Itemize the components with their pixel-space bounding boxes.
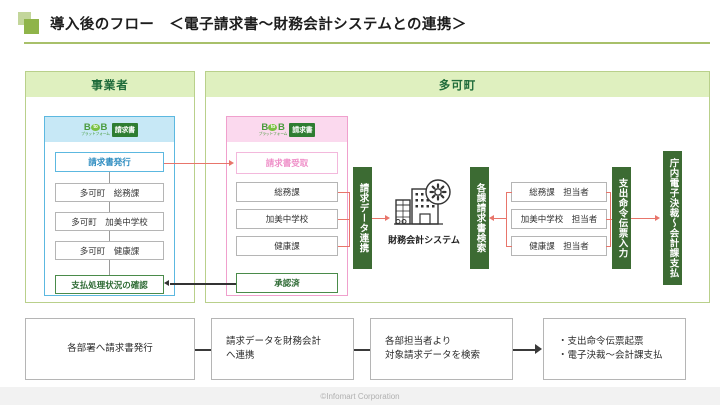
bracket-staff1-right: [606, 192, 611, 193]
footer-copyright-text: ©Infomart Corporation: [320, 392, 399, 401]
flow-box-staff-3[interactable]: 健康課 担当者: [511, 236, 607, 256]
btob-logo-letters: B to B: [84, 123, 107, 133]
flow-box-vendor-dept-3[interactable]: 多可町 健康課: [55, 241, 164, 260]
btob-logo-mark: B to B プラットフォーム: [81, 123, 110, 137]
btob-logo-badge-town: 請求書: [289, 123, 315, 137]
bracket-staff3-left: [506, 246, 512, 247]
summary-box-2-line1: 請求データを財務会計: [226, 335, 321, 349]
summary-box-4: ・支出命令伝票起票 ・電子決裁～会計課支払: [543, 318, 686, 380]
title-marker-front-square: [24, 19, 39, 34]
flow-box-invoice-receive[interactable]: 請求書受取: [236, 152, 338, 174]
btob-logo-to: to: [91, 124, 100, 131]
btob-logo-b-left-town: B: [261, 123, 268, 133]
flow-box-vendor-dept-1[interactable]: 多可町 総務課: [55, 183, 164, 202]
arrow-approved-to-confirm-head: [164, 280, 169, 286]
btob-logo-b-right: B: [100, 123, 107, 133]
flow-box-town-dept-2[interactable]: 加美中学校: [236, 209, 338, 229]
summary-box-4-line1: ・支出命令伝票起票: [558, 335, 663, 349]
btob-platform-logo-town: B to B プラットフォーム 請求書: [259, 123, 316, 137]
summary-box-1: 各部署へ請求書発行: [25, 318, 195, 380]
summary-box-3: 各部担当者より 対象請求データを検索: [370, 318, 513, 380]
btob-logo-to-town: to: [268, 124, 277, 131]
btob-logo-mark-town: B to B プラットフォーム: [259, 123, 288, 137]
bracket-staff-left-vertical: [506, 192, 507, 247]
btob-logo-letters-town: B to B: [261, 123, 284, 133]
summary-box-4-line2: ・電子決裁～会計課支払: [558, 349, 663, 363]
summary-connector-1: [195, 349, 211, 351]
flow-box-payment-status-check[interactable]: 支払処理状況の確認: [55, 275, 164, 294]
btob-logo-header-vendor: B to B プラットフォーム 請求書: [45, 117, 174, 142]
arrow-voucher-to-approval-head: [655, 215, 660, 221]
panel-vendor-header: 事業者: [26, 72, 194, 97]
vbar-internal-electronic-approval: 庁内電子決裁～会計課支払: [663, 151, 682, 285]
arrow-staff-to-search-head: [489, 215, 494, 221]
connector-dept2-dept3: [109, 231, 110, 241]
arrow-datalink-to-system-head: [385, 215, 390, 221]
connector-dept3-confirm: [109, 260, 110, 275]
arrow-datalink-to-system-line: [372, 218, 386, 219]
flow-box-town-dept-1[interactable]: 総務課: [236, 182, 338, 202]
btob-logo-badge: 請求書: [112, 123, 138, 137]
btob-logo-header-town: B to B プラットフォーム 請求書: [227, 117, 347, 142]
btob-logo-b-left: B: [84, 123, 91, 133]
building-gear-icon: [393, 178, 455, 230]
arrow-staff-to-search-line: [493, 218, 507, 219]
system-label: 財務会計システム: [378, 233, 470, 246]
title-divider: [24, 42, 710, 44]
btob-platform-box-town: B to B プラットフォーム 請求書: [226, 116, 348, 296]
arrow-issue-to-receive-head: [229, 160, 234, 166]
flow-box-invoice-issue[interactable]: 請求書発行: [55, 152, 164, 172]
panel-town-header: 多可町: [206, 72, 709, 97]
summary-arrow-3-head: [535, 344, 542, 354]
flow-box-approved[interactable]: 承認済: [236, 273, 338, 293]
arrow-approved-to-confirm-line: [170, 283, 236, 285]
vbar-invoice-data-link: 請求データ連携: [353, 167, 372, 269]
flow-box-staff-2[interactable]: 加美中学校 担当者: [511, 209, 607, 229]
summary-connector-2: [354, 349, 370, 351]
btob-logo-subtitle-town: プラットフォーム: [259, 133, 288, 137]
btob-logo-b-right-town: B: [278, 123, 285, 133]
bracket-staff1-left: [506, 192, 512, 193]
summary-box-1-text: 各部署へ請求書発行: [67, 342, 153, 356]
flow-box-town-dept-3[interactable]: 健康課: [236, 236, 338, 256]
flow-box-vendor-dept-2[interactable]: 多可町 加美中学校: [55, 212, 164, 231]
slide-title-bar: 導入後のフロー ＜電子請求書～財務会計システムとの連携＞: [0, 0, 720, 52]
page-title: 導入後のフロー ＜電子請求書～財務会計システムとの連携＞: [50, 13, 467, 34]
summary-box-2-line2: へ連携: [226, 349, 321, 363]
summary-box-2: 請求データを財務会計 へ連携: [211, 318, 354, 380]
arrow-voucher-to-approval-line: [631, 218, 657, 219]
vbar-payment-voucher-entry: 支出命令伝票入力: [612, 167, 631, 269]
bracket-staff3-right: [606, 246, 611, 247]
btob-logo-subtitle: プラットフォーム: [81, 133, 110, 137]
flow-box-staff-1[interactable]: 総務課 担当者: [511, 182, 607, 202]
btob-platform-logo: B to B プラットフォーム 請求書: [81, 123, 138, 137]
connector-dept1-dept2: [109, 202, 110, 212]
summary-connector-3: [513, 349, 536, 351]
footer-copyright: ©Infomart Corporation: [0, 387, 720, 405]
summary-box-3-line1: 各部担当者より: [385, 335, 480, 349]
arrow-issue-to-receive-line: [164, 163, 230, 164]
connector-issue-dept1: [109, 172, 110, 183]
vbar-invoice-search: 各課請求書検索: [470, 167, 489, 269]
summary-box-3-line2: 対象請求データを検索: [385, 349, 480, 363]
bracket-depts-vertical: [349, 192, 350, 247]
